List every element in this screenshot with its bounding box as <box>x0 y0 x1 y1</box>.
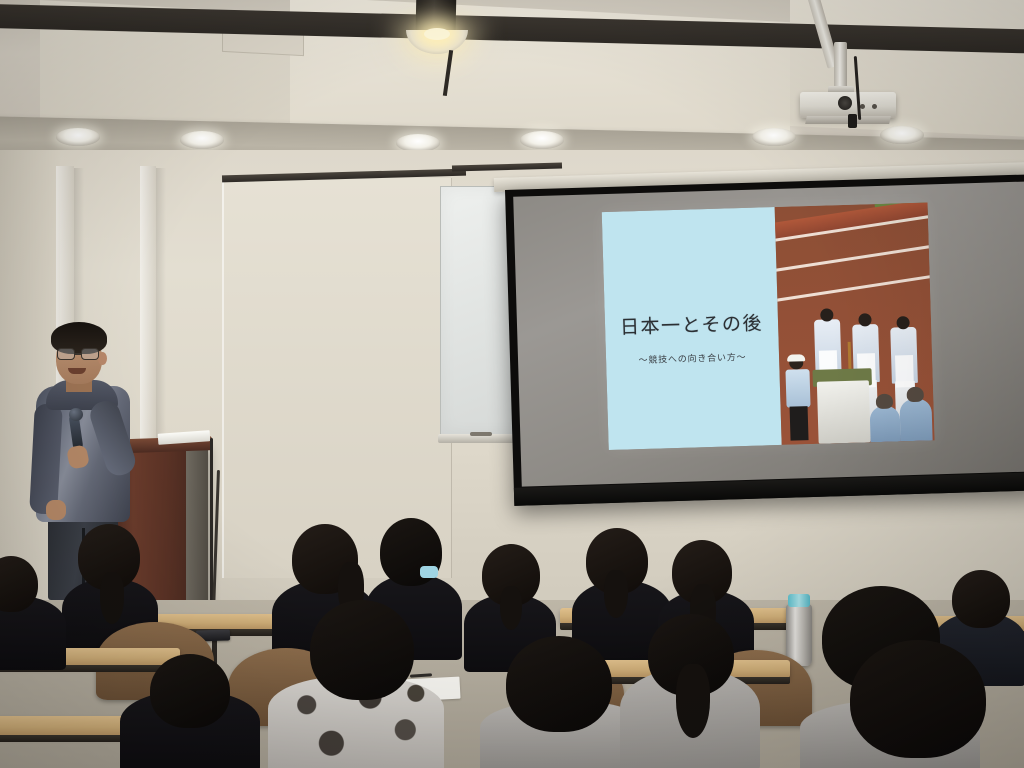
microphone-head <box>69 408 83 421</box>
audience-head <box>850 640 986 758</box>
audience-ponytail <box>676 664 710 738</box>
downlight-2 <box>180 131 224 149</box>
glasses-icon <box>57 348 102 360</box>
slide-subtitle: ～競技への向き合い方～ <box>638 350 746 366</box>
audience-head <box>952 570 1010 628</box>
downlight-6 <box>880 126 924 144</box>
projector-port-2 <box>872 104 877 109</box>
presentation-slide: 日本一とその後 ～競技への向き合い方～ <box>602 202 935 450</box>
audience-ponytail <box>500 586 522 630</box>
presenter-left-arm <box>29 403 63 514</box>
audience-ponytail <box>100 572 124 624</box>
downlight-5 <box>752 128 796 146</box>
slide-title: 日本一とその後 <box>620 308 764 339</box>
downlight-4 <box>520 131 564 149</box>
lecture-hall-scene: 日本一とその後 ～競技への向き合い方～ <box>0 0 1024 768</box>
projector-cable-plug <box>848 114 857 128</box>
desk-foreground <box>0 716 136 736</box>
photo-lane-line-3 <box>774 271 934 305</box>
projection-screen-surface: 日本一とその後 ～競技への向き合い方～ <box>513 182 1024 487</box>
photo-official-1 <box>785 356 811 441</box>
projector-port-1 <box>860 104 865 109</box>
downlight-1 <box>56 128 100 146</box>
audience-head <box>310 600 414 700</box>
audience-head <box>150 654 230 728</box>
photo-seated-official-1 <box>869 405 900 442</box>
slide-text-panel: 日本一とその後 ～競技への向き合い方～ <box>602 207 782 450</box>
photo-seated-official-2 <box>900 398 933 441</box>
pendant-light-bulb <box>424 28 450 40</box>
water-bottle <box>786 604 812 666</box>
projection-screen: 日本一とその後 ～競技への向き合い方～ <box>505 174 1024 506</box>
audience-head <box>506 636 612 732</box>
face-mask <box>420 566 438 578</box>
projector-lens <box>838 96 852 110</box>
photo-lane-line-2 <box>774 241 934 275</box>
water-bottle-cap <box>788 594 810 607</box>
slide-photo <box>774 202 934 444</box>
whiteboard-marker <box>470 432 492 436</box>
presenter-left-hand <box>46 500 66 520</box>
photo-officials-table <box>816 380 870 443</box>
audience-ponytail <box>604 570 628 618</box>
